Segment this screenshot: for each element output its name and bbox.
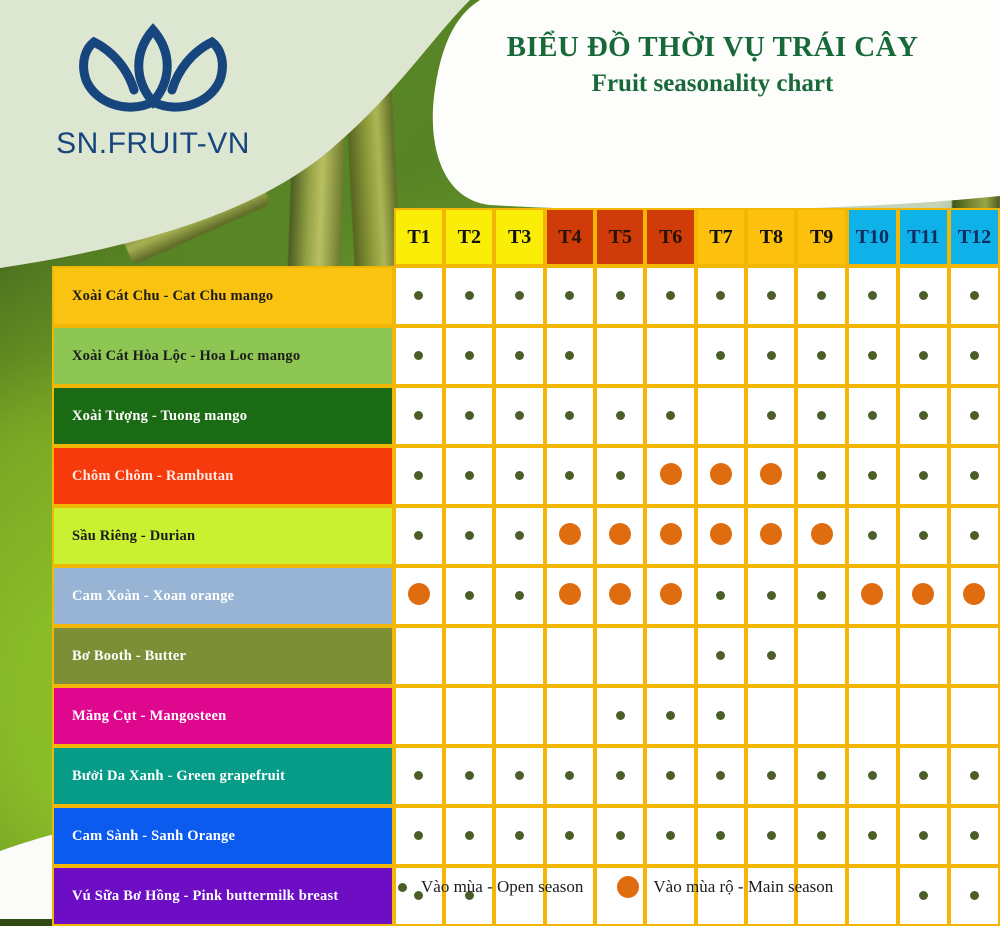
season-cell-r5-t4[interactable] [545,506,595,566]
season-cell-r3-t8[interactable] [746,386,796,446]
season-cell-r3-t12[interactable] [949,386,1000,446]
small-dot-icon [666,291,675,300]
season-cell-r1-t5[interactable] [595,266,645,326]
season-cell-r1-t4[interactable] [545,266,595,326]
small-dot-icon [565,831,574,840]
large-dot-icon [559,523,581,545]
season-cell-r7-t4[interactable] [545,626,595,686]
fruit-label: Vú Sữa Bơ Hồng - Pink buttermilk breast [52,866,394,926]
season-cell-r9-t2[interactable] [444,746,494,806]
season-cell-r6-t8[interactable] [746,566,796,626]
season-cell-r10-t1[interactable] [394,806,444,866]
season-cell-r8-t1[interactable] [394,686,444,746]
season-cell-r1-t6[interactable] [645,266,695,326]
small-dot-icon [970,291,979,300]
small-dot-icon [414,531,423,540]
small-dot-icon [465,771,474,780]
small-dot-icon [868,831,877,840]
large-dot-icon [861,583,883,605]
fruit-label: Cam Sành - Sanh Orange [52,806,394,866]
small-dot-icon [465,831,474,840]
season-cell-r10-t7[interactable] [696,806,746,866]
small-dot-icon [817,771,826,780]
fruit-label: Cam Xoàn - Xoan orange [52,566,394,626]
small-dot-icon [716,591,725,600]
fruit-label: Xoài Cát Hòa Lộc - Hoa Loc mango [52,326,394,386]
season-cell-r2-t8[interactable] [746,326,796,386]
season-cell-r2-t5[interactable] [595,326,645,386]
season-cell-r10-t4[interactable] [545,806,595,866]
season-cell-r3-t4[interactable] [545,386,595,446]
brand-name: SN.FRUIT-VN [38,127,268,161]
table-row: Xoài Cát Chu - Cat Chu mango [52,266,1000,326]
small-dot-icon [970,351,979,360]
small-dot-icon [919,891,928,900]
season-cell-r4-t4[interactable] [545,446,595,506]
season-cell-r2-t2[interactable] [444,326,494,386]
season-cell-r10-t9[interactable] [796,806,846,866]
small-dot-icon [868,471,877,480]
season-cell-r5-t12[interactable] [949,506,1000,566]
season-cell-r3-t9[interactable] [796,386,846,446]
season-cell-r11-t11[interactable] [898,866,949,926]
small-dot-icon [565,771,574,780]
season-cell-r8-t7[interactable] [696,686,746,746]
small-dot-icon [767,351,776,360]
fruit-label: Măng Cụt - Mangosteen [52,686,394,746]
month-header-t10[interactable]: T10 [847,208,898,266]
season-cell-r9-t5[interactable] [595,746,645,806]
season-cell-r4-t1[interactable] [394,446,444,506]
legend-label-main-season: Vào mùa rộ - Main season [653,877,833,897]
small-dot-icon [565,351,574,360]
large-dot-icon [760,523,782,545]
small-dot-icon [767,651,776,660]
season-cell-r9-t3[interactable] [494,746,544,806]
season-cell-r1-t11[interactable] [898,266,949,326]
small-dot-icon [465,291,474,300]
seasonality-chart: T1T2T3T4T5T6T7T8T9T10T11T12 Xoài Cát Chu… [52,208,1000,926]
season-cell-r7-t3[interactable] [494,626,544,686]
small-dot-icon [465,591,474,600]
small-dot-icon [465,471,474,480]
small-dot-icon [565,291,574,300]
season-cell-r8-t10[interactable] [847,686,898,746]
large-dot-icon [760,463,782,485]
season-cell-r7-t7[interactable] [696,626,746,686]
small-dot-icon [414,291,423,300]
small-dot-icon [970,531,979,540]
season-cell-r5-t11[interactable] [898,506,949,566]
table-row: Xoài Tượng - Tuong mango [52,386,1000,446]
season-cell-r7-t1[interactable] [394,626,444,686]
season-cell-r4-t6[interactable] [645,446,695,506]
season-cell-r6-t12[interactable] [949,566,1000,626]
season-cell-r10-t8[interactable] [746,806,796,866]
small-dot-icon [970,891,979,900]
table-row: Bơ Booth - Butter [52,626,1000,686]
season-cell-r8-t9[interactable] [796,686,846,746]
small-dot-icon [970,771,979,780]
season-cell-r9-t6[interactable] [645,746,695,806]
small-dot-icon [414,471,423,480]
small-dot-icon [616,711,625,720]
month-header-t12[interactable]: T12 [949,208,1000,266]
small-dot-icon [515,351,524,360]
legend-label-open-season: Vào mùa - Open season [421,877,583,897]
small-dot-icon [515,531,524,540]
small-dot-icon [919,531,928,540]
small-dot-icon [666,831,675,840]
small-dot-icon [970,471,979,480]
season-cell-r9-t1[interactable] [394,746,444,806]
small-dot-icon [515,291,524,300]
season-cell-r8-t5[interactable] [595,686,645,746]
small-dot-icon [716,651,725,660]
small-dot-icon [616,411,625,420]
small-dot-icon [565,411,574,420]
month-header-t2[interactable]: T2 [444,208,494,266]
lotus-leaf-icon [68,18,238,123]
small-dot-icon [666,411,675,420]
season-cell-r8-t2[interactable] [444,686,494,746]
table-corner-cell [52,208,394,266]
season-cell-r5-t5[interactable] [595,506,645,566]
small-dot-icon [414,771,423,780]
chart-title-vi: BIỂU ĐỒ THỜI VỤ TRÁI CÂY [440,30,985,64]
season-cell-r8-t11[interactable] [898,686,949,746]
season-cell-r1-t2[interactable] [444,266,494,326]
large-dot-icon [660,523,682,545]
month-header-t3[interactable]: T3 [494,208,544,266]
season-cell-r5-t2[interactable] [444,506,494,566]
season-cell-r6-t7[interactable] [696,566,746,626]
small-dot-icon [767,411,776,420]
season-cell-r3-t1[interactable] [394,386,444,446]
season-cell-r3-t3[interactable] [494,386,544,446]
chart-legend: Vào mùa - Open season Vào mùa rộ - Main … [398,876,833,898]
large-dot-icon [559,583,581,605]
small-dot-icon [817,411,826,420]
month-header-t1[interactable]: T1 [394,208,444,266]
season-cell-r6-t2[interactable] [444,566,494,626]
season-cell-r7-t9[interactable] [796,626,846,686]
season-cell-r6-t6[interactable] [645,566,695,626]
legend-item-main-season: Vào mùa rộ - Main season [617,876,833,898]
small-dot-icon [919,291,928,300]
season-cell-r9-t4[interactable] [545,746,595,806]
season-cell-r8-t12[interactable] [949,686,1000,746]
table-row: Bưởi Da Xanh - Green grapefruit [52,746,1000,806]
month-header-t6[interactable]: T6 [645,208,695,266]
large-dot-icon [912,583,934,605]
season-cell-r1-t10[interactable] [847,266,898,326]
small-dot-icon [616,471,625,480]
season-cell-r1-t1[interactable] [394,266,444,326]
small-dot-icon [767,771,776,780]
small-dot-icon [666,711,675,720]
season-cell-r7-t10[interactable] [847,626,898,686]
fruit-label: Xoài Tượng - Tuong mango [52,386,394,446]
small-dot-icon [616,771,625,780]
small-dot-icon [465,531,474,540]
small-dot-icon [398,883,407,892]
seasonality-table: T1T2T3T4T5T6T7T8T9T10T11T12 Xoài Cát Chu… [52,208,1000,926]
month-header-t4[interactable]: T4 [545,208,595,266]
small-dot-icon [414,351,423,360]
season-cell-r3-t2[interactable] [444,386,494,446]
month-header-t8[interactable]: T8 [746,208,796,266]
small-dot-icon [465,411,474,420]
month-header-t7[interactable]: T7 [696,208,746,266]
season-cell-r2-t12[interactable] [949,326,1000,386]
season-cell-r9-t8[interactable] [746,746,796,806]
small-dot-icon [515,471,524,480]
season-cell-r7-t5[interactable] [595,626,645,686]
month-header-t9[interactable]: T9 [796,208,846,266]
season-cell-r3-t10[interactable] [847,386,898,446]
small-dot-icon [515,411,524,420]
small-dot-icon [919,471,928,480]
small-dot-icon [716,771,725,780]
month-header-t11[interactable]: T11 [898,208,949,266]
small-dot-icon [868,291,877,300]
small-dot-icon [767,291,776,300]
season-cell-r10-t10[interactable] [847,806,898,866]
fruit-label: Xoài Cát Chu - Cat Chu mango [52,266,394,326]
large-dot-icon [811,523,833,545]
season-cell-r5-t1[interactable] [394,506,444,566]
season-cell-r9-t11[interactable] [898,746,949,806]
small-dot-icon [414,411,423,420]
season-cell-r10-t11[interactable] [898,806,949,866]
large-dot-icon [609,523,631,545]
fruit-label: Bưởi Da Xanh - Green grapefruit [52,746,394,806]
month-header-t5[interactable]: T5 [595,208,645,266]
small-dot-icon [817,831,826,840]
small-dot-icon [817,591,826,600]
season-cell-r8-t4[interactable] [545,686,595,746]
small-dot-icon [868,411,877,420]
table-row: Cam Xoàn - Xoan orange [52,566,1000,626]
small-dot-icon [515,831,524,840]
season-cell-r10-t2[interactable] [444,806,494,866]
fruit-label: Chôm Chôm - Rambutan [52,446,394,506]
legend-item-open-season: Vào mùa - Open season [398,877,583,897]
season-cell-r9-t12[interactable] [949,746,1000,806]
season-cell-r4-t10[interactable] [847,446,898,506]
brand-logo: SN.FRUIT-VN [38,18,268,161]
season-cell-r1-t3[interactable] [494,266,544,326]
season-cell-r11-t10[interactable] [847,866,898,926]
table-header-row: T1T2T3T4T5T6T7T8T9T10T11T12 [52,208,1000,266]
small-dot-icon [970,831,979,840]
large-dot-icon [660,583,682,605]
small-dot-icon [716,291,725,300]
season-cell-r3-t5[interactable] [595,386,645,446]
season-cell-r5-t7[interactable] [696,506,746,566]
season-cell-r10-t3[interactable] [494,806,544,866]
season-cell-r3-t7[interactable] [696,386,746,446]
small-dot-icon [919,411,928,420]
season-cell-r4-t12[interactable] [949,446,1000,506]
season-cell-r10-t5[interactable] [595,806,645,866]
large-dot-icon [408,583,430,605]
season-cell-r4-t3[interactable] [494,446,544,506]
small-dot-icon [515,771,524,780]
season-cell-r6-t11[interactable] [898,566,949,626]
small-dot-icon [919,351,928,360]
small-dot-icon [919,771,928,780]
small-dot-icon [919,831,928,840]
season-cell-r9-t7[interactable] [696,746,746,806]
season-cell-r6-t9[interactable] [796,566,846,626]
season-cell-r2-t4[interactable] [545,326,595,386]
season-cell-r10-t6[interactable] [645,806,695,866]
season-cell-r10-t12[interactable] [949,806,1000,866]
season-cell-r7-t12[interactable] [949,626,1000,686]
season-cell-r1-t12[interactable] [949,266,1000,326]
table-row: Sầu Riêng - Durian [52,506,1000,566]
small-dot-icon [716,711,725,720]
season-cell-r2-t10[interactable] [847,326,898,386]
large-dot-icon [617,876,639,898]
season-cell-r1-t7[interactable] [696,266,746,326]
season-cell-r4-t2[interactable] [444,446,494,506]
table-row: Xoài Cát Hòa Lộc - Hoa Loc mango [52,326,1000,386]
large-dot-icon [710,463,732,485]
chart-title-block: BIỂU ĐỒ THỜI VỤ TRÁI CÂY Fruit seasonali… [440,30,985,99]
table-row: Măng Cụt - Mangosteen [52,686,1000,746]
small-dot-icon [970,411,979,420]
season-cell-r2-t9[interactable] [796,326,846,386]
season-cell-r3-t6[interactable] [645,386,695,446]
table-row: Chôm Chôm - Rambutan [52,446,1000,506]
season-cell-r4-t9[interactable] [796,446,846,506]
season-cell-r6-t3[interactable] [494,566,544,626]
small-dot-icon [565,471,574,480]
season-cell-r3-t11[interactable] [898,386,949,446]
small-dot-icon [817,471,826,480]
season-cell-r5-t3[interactable] [494,506,544,566]
large-dot-icon [710,523,732,545]
season-cell-r5-t10[interactable] [847,506,898,566]
table-body: Xoài Cát Chu - Cat Chu mangoXoài Cát Hòa… [52,266,1000,926]
chart-title-en: Fruit seasonality chart [440,68,985,99]
small-dot-icon [716,351,725,360]
season-cell-r11-t12[interactable] [949,866,1000,926]
season-cell-r4-t8[interactable] [746,446,796,506]
small-dot-icon [716,831,725,840]
small-dot-icon [465,351,474,360]
season-cell-r4-t7[interactable] [696,446,746,506]
season-cell-r8-t3[interactable] [494,686,544,746]
small-dot-icon [868,351,877,360]
small-dot-icon [616,831,625,840]
large-dot-icon [609,583,631,605]
season-cell-r5-t6[interactable] [645,506,695,566]
season-cell-r6-t5[interactable] [595,566,645,626]
season-cell-r6-t10[interactable] [847,566,898,626]
season-cell-r8-t8[interactable] [746,686,796,746]
season-cell-r6-t4[interactable] [545,566,595,626]
season-cell-r7-t6[interactable] [645,626,695,686]
season-cell-r8-t6[interactable] [645,686,695,746]
small-dot-icon [515,591,524,600]
season-cell-r2-t7[interactable] [696,326,746,386]
small-dot-icon [817,291,826,300]
small-dot-icon [817,351,826,360]
large-dot-icon [963,583,985,605]
small-dot-icon [616,291,625,300]
season-cell-r4-t11[interactable] [898,446,949,506]
season-cell-r7-t2[interactable] [444,626,494,686]
season-cell-r1-t9[interactable] [796,266,846,326]
small-dot-icon [767,831,776,840]
season-cell-r2-t3[interactable] [494,326,544,386]
season-cell-r2-t1[interactable] [394,326,444,386]
season-cell-r9-t10[interactable] [847,746,898,806]
fruit-label: Bơ Booth - Butter [52,626,394,686]
small-dot-icon [868,531,877,540]
season-cell-r1-t8[interactable] [746,266,796,326]
small-dot-icon [414,831,423,840]
season-cell-r2-t6[interactable] [645,326,695,386]
season-cell-r6-t1[interactable] [394,566,444,626]
season-cell-r5-t9[interactable] [796,506,846,566]
large-dot-icon [660,463,682,485]
season-cell-r7-t8[interactable] [746,626,796,686]
small-dot-icon [767,591,776,600]
season-cell-r5-t8[interactable] [746,506,796,566]
season-cell-r9-t9[interactable] [796,746,846,806]
season-cell-r7-t11[interactable] [898,626,949,686]
table-row: Cam Sành - Sanh Orange [52,806,1000,866]
small-dot-icon [868,771,877,780]
fruit-label: Sầu Riêng - Durian [52,506,394,566]
season-cell-r4-t5[interactable] [595,446,645,506]
season-cell-r2-t11[interactable] [898,326,949,386]
small-dot-icon [666,771,675,780]
